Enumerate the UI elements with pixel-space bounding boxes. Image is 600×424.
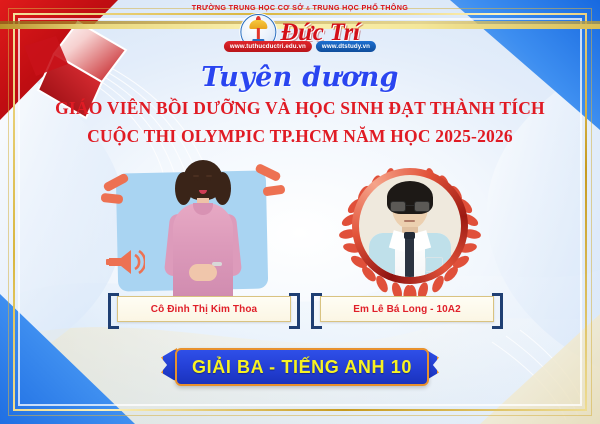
student-name: Em Lê Bá Long - 10A2 [353, 304, 461, 315]
student-portrait [359, 175, 461, 277]
necktie-knot [404, 232, 415, 239]
award-text: GIẢI BA - TIẾNG ANH 10 [192, 357, 412, 378]
eyebrow-left [193, 175, 199, 177]
accent-dash-icon [101, 193, 124, 204]
school-name-post: TRUNG HỌC PHỔ THÔNG [313, 3, 409, 12]
title-line-1: GIÁO VIÊN BỒI DƯỠNG VÀ HỌC SINH ĐẠT THÀN… [0, 98, 600, 119]
hair-top [183, 160, 223, 200]
url-secondary[interactable]: www.dtstudy.vn [316, 41, 376, 52]
ao-dai-body [173, 203, 233, 304]
name-plate-student: Em Lê Bá Long - 10A2 [320, 296, 494, 322]
title-script: Tuyên dương [0, 62, 600, 93]
teacher-portrait [157, 158, 249, 304]
teacher-name: Cô Đinh Thị Kim Thoa [151, 304, 257, 315]
teacher-photo-block [95, 158, 310, 308]
megaphone-icon [105, 246, 145, 278]
hands [189, 264, 217, 281]
glasses-bridge [406, 205, 414, 206]
accent-dash-icon [262, 185, 285, 197]
lens-right [414, 201, 430, 212]
lens-left [390, 201, 406, 212]
shirt-pocket [425, 257, 443, 272]
necktie [405, 235, 414, 277]
award-poster: TRƯỜNG TRUNG HỌC CƠ SỞ & TRUNG HỌC PHỔ T… [0, 0, 600, 424]
mouth [404, 220, 415, 222]
school-name-line: TRƯỜNG TRUNG HỌC CƠ SỞ & TRUNG HỌC PHỔ T… [0, 3, 600, 12]
school-name-ampersand: & [306, 6, 310, 12]
title-line-2: CUỘC THI OLYMPIC TP.HCM NĂM HỌC 2025-202… [0, 126, 600, 147]
student-photo-block [330, 160, 490, 308]
school-name-pre: TRƯỜNG TRUNG HỌC CƠ SỞ [192, 3, 304, 12]
url-primary[interactable]: www.tuthucductri.edu.vn [224, 41, 312, 52]
name-plate-teacher: Cô Đinh Thị Kim Thoa [117, 296, 291, 322]
website-urls: www.tuthucductri.edu.vn www.dtstudy.vn [224, 41, 376, 52]
award-banner: GIẢI BA - TIẾNG ANH 10 [175, 348, 429, 386]
eyebrow-right [206, 175, 212, 177]
glasses-icon [389, 201, 431, 212]
